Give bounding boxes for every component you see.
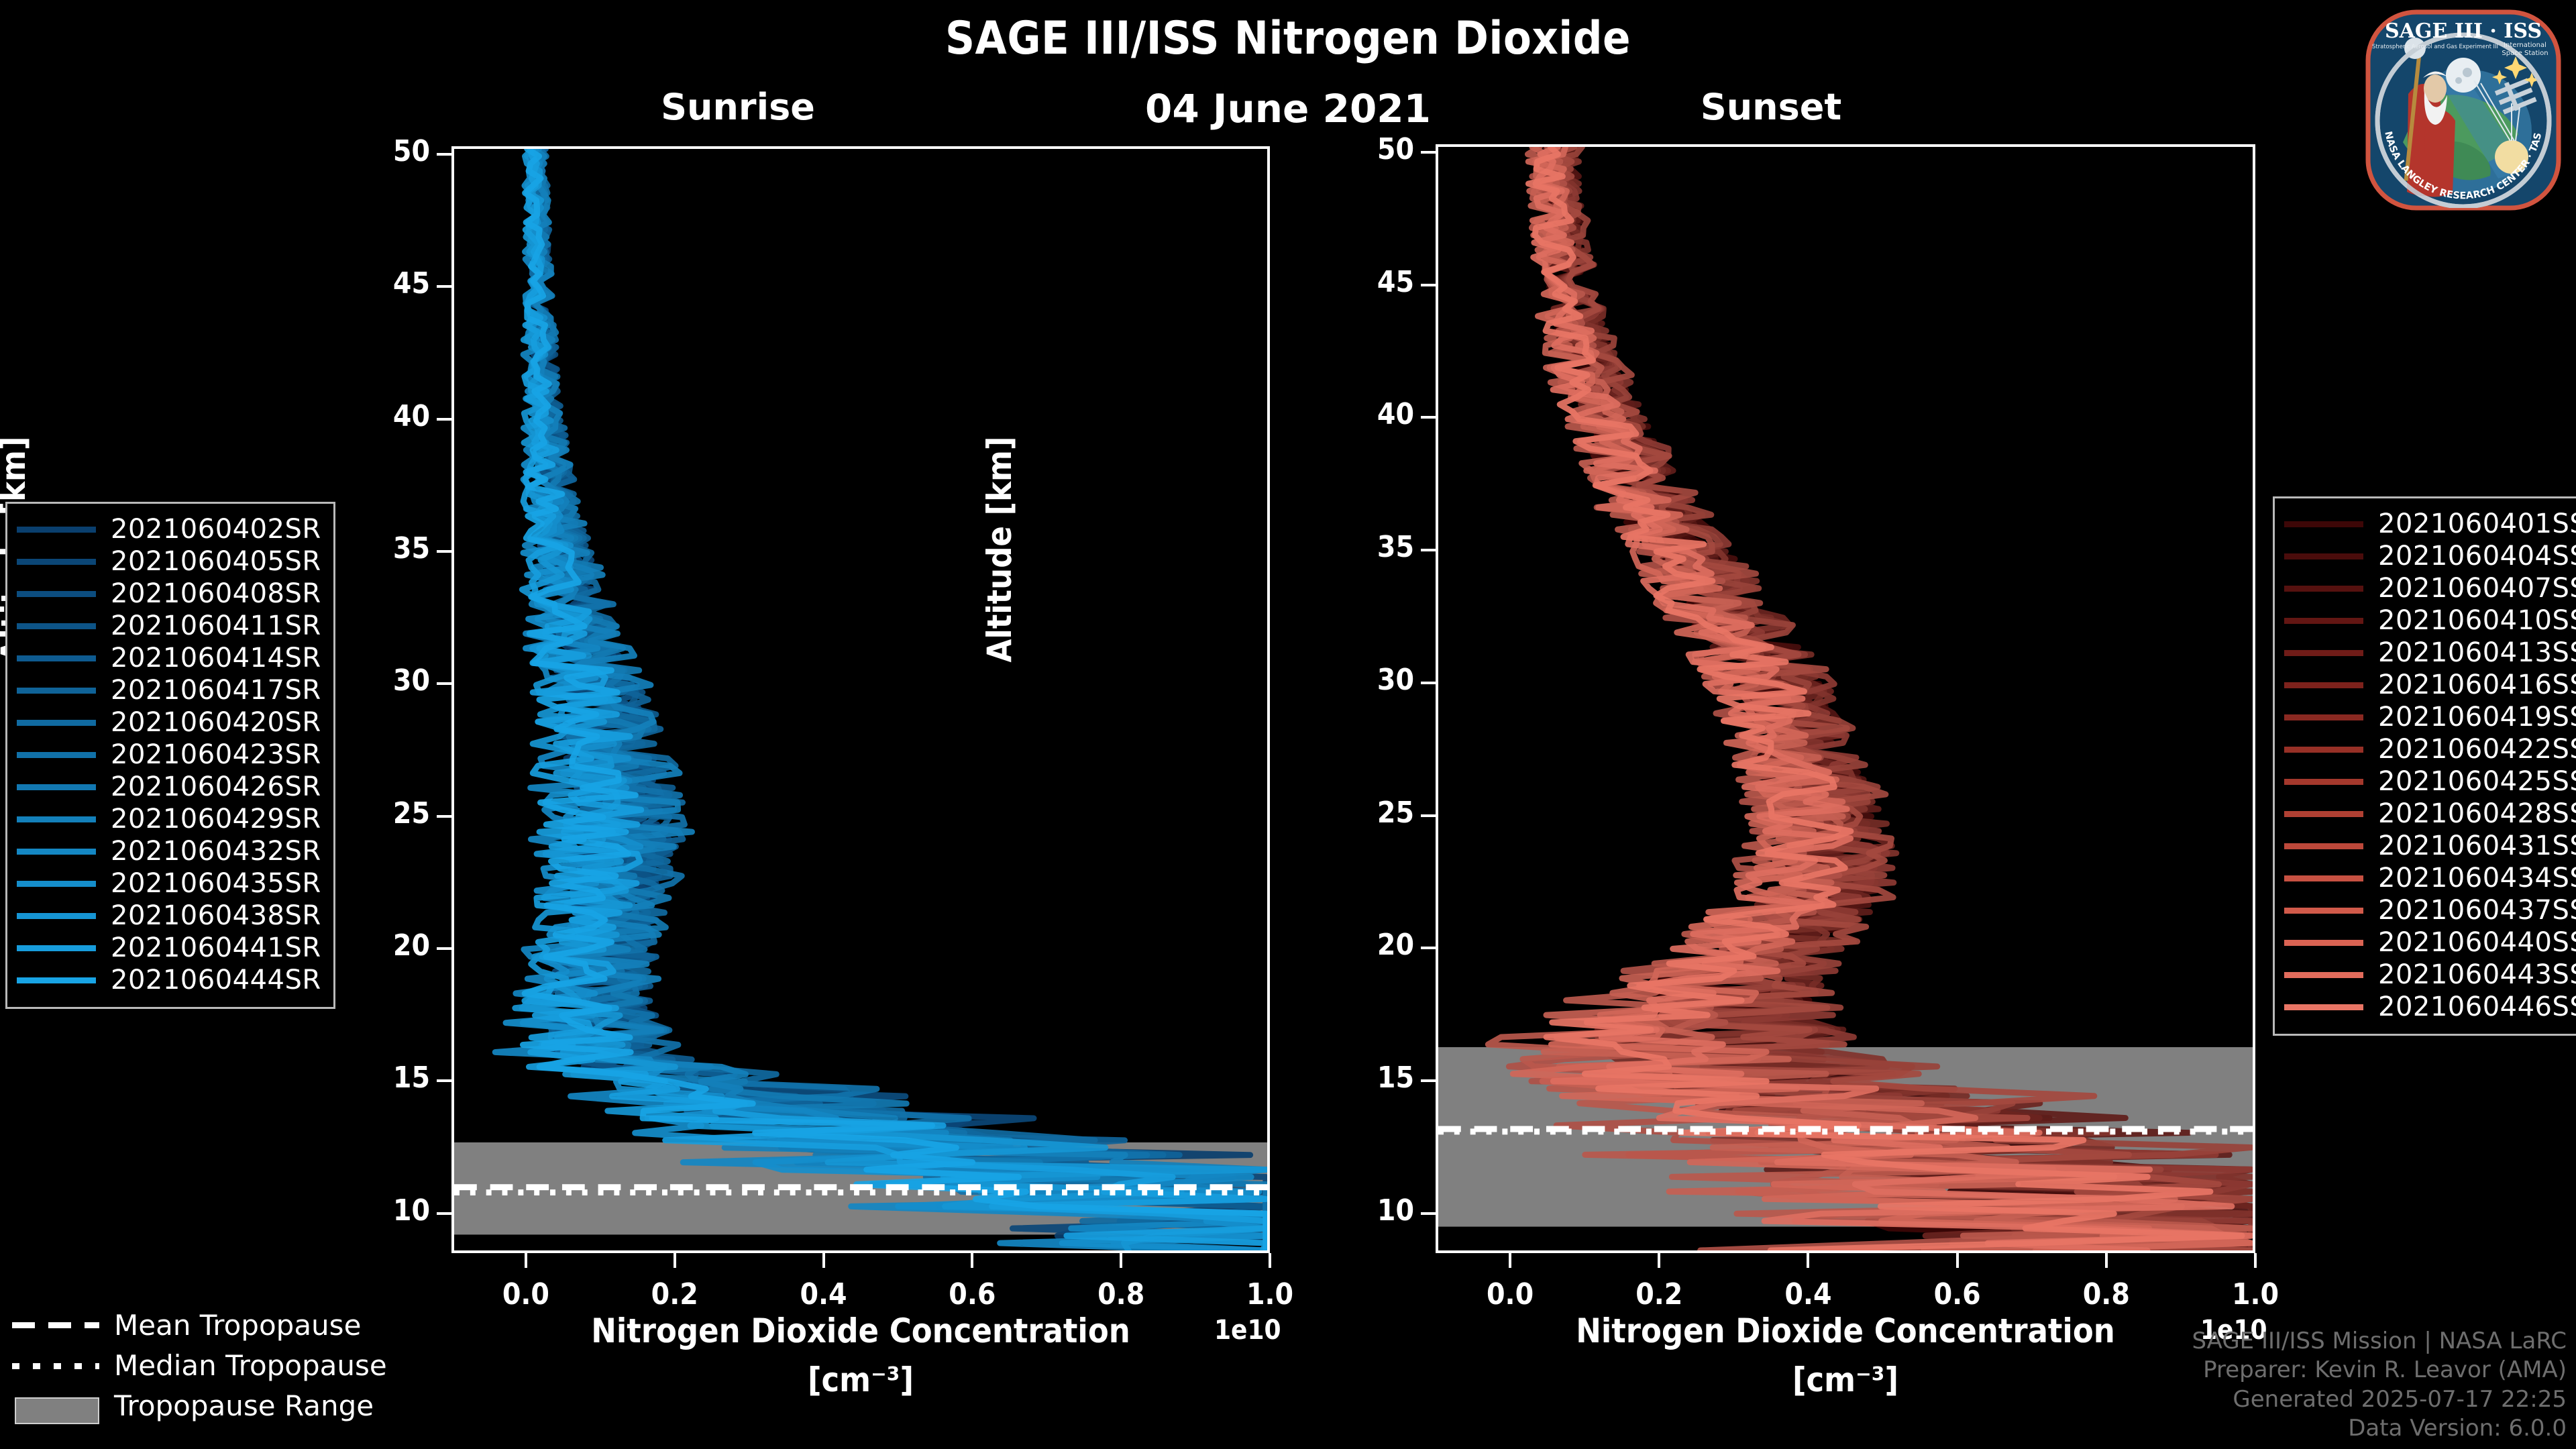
logo-subtitle-right-2: Space Station: [2502, 50, 2548, 57]
ytick-mark: [1421, 947, 1436, 949]
tropopause-legend: Mean Tropopause Median Tropopause Tropop…: [12, 1305, 387, 1426]
ytick-label: 45: [351, 266, 430, 301]
logo-subtitle-right-1: International: [2504, 42, 2546, 49]
legend-color-swatch: [2284, 843, 2363, 849]
legend-item[interactable]: 2021060446SS: [2284, 991, 2576, 1023]
legend-item[interactable]: 2021060443SS: [2284, 959, 2576, 991]
legend-item[interactable]: 2021060422SS: [2284, 733, 2576, 765]
legend-item[interactable]: 2021060425SS: [2284, 765, 2576, 798]
legend-color-swatch: [17, 849, 96, 855]
xtick-label: 0.6: [912, 1277, 1032, 1311]
xtick-label: 0.6: [1897, 1277, 2018, 1311]
legend-item[interactable]: 2021060428SS: [2284, 798, 2576, 830]
ytick-mark: [437, 682, 451, 685]
xtick-label: 0.2: [614, 1277, 735, 1311]
xtick-mark: [1807, 1253, 1809, 1268]
ytick-mark: [1421, 549, 1436, 551]
legend-color-swatch: [2284, 521, 2363, 527]
legend-color-swatch: [17, 720, 96, 726]
legend-item-label: 2021060435SR: [111, 868, 321, 899]
legend-color-swatch: [17, 945, 96, 951]
ytick-label: 30: [351, 663, 430, 698]
mean-tropopause-label: Mean Tropopause: [114, 1309, 361, 1342]
ytick-label: 35: [1335, 530, 1414, 564]
legend-row-mean-tropopause: Mean Tropopause: [12, 1305, 387, 1345]
legend-item-label: 2021060440SS: [2378, 927, 2576, 958]
ytick-label: 20: [351, 928, 430, 963]
legend-item-label: 2021060429SR: [111, 804, 321, 835]
ytick-mark: [1421, 416, 1436, 419]
xtick-mark: [1658, 1253, 1660, 1268]
footer-line-version: Data Version: 6.0.0: [2192, 1414, 2567, 1444]
footer-line-generated: Generated 2025-07-17 22:25: [2192, 1385, 2567, 1415]
legend-item[interactable]: 2021060408SR: [17, 578, 321, 610]
sage-iii-iss-logo: SAGE III · ISS Stratospheric Aerosol and…: [2356, 3, 2571, 217]
xtick-mark: [822, 1253, 825, 1268]
ytick-mark: [1421, 814, 1436, 817]
legend-item[interactable]: 2021060420SR: [17, 706, 321, 739]
ytick-mark: [437, 285, 451, 288]
legend-item-label: 2021060431SS: [2378, 830, 2576, 861]
legend-item-label: 2021060420SR: [111, 707, 321, 738]
ytick-mark: [1421, 284, 1436, 286]
legend-item-label: 2021060444SR: [111, 965, 321, 996]
legend-item[interactable]: 2021060437SS: [2284, 894, 2576, 926]
legend-row-median-tropopause: Median Tropopause: [12, 1345, 387, 1385]
legend-item-label: 2021060404SS: [2378, 541, 2576, 572]
legend-item[interactable]: 2021060417SR: [17, 674, 321, 706]
sunset-xlabel-line1: Nitrogen Dioxide Concentration: [1436, 1311, 2255, 1350]
legend-item[interactable]: 2021060423SR: [17, 739, 321, 771]
xtick-label: 0.2: [1599, 1277, 1719, 1311]
legend-item[interactable]: 2021060405SR: [17, 545, 321, 578]
ytick-mark: [437, 418, 451, 421]
legend-item[interactable]: 2021060404SS: [2284, 540, 2576, 572]
date-title: 04 June 2021: [0, 86, 2576, 131]
xtick-label: 0.0: [1450, 1277, 1570, 1311]
legend-item-label: 2021060434SS: [2378, 863, 2576, 894]
legend-item-label: 2021060443SS: [2378, 959, 2576, 990]
legend-item-label: 2021060423SR: [111, 739, 321, 770]
sunrise-profile-curves: [454, 149, 1267, 1250]
sunrise-plot-area: [451, 146, 1270, 1253]
xtick-label: 0.4: [1748, 1277, 1868, 1311]
footer-line-mission: SAGE III/ISS Mission | NASA LaRC: [2192, 1327, 2567, 1356]
xtick-label: 1.0: [1210, 1277, 1330, 1311]
legend-item[interactable]: 2021060441SR: [17, 932, 321, 964]
sunrise-x-offset-text: 1e10: [1214, 1315, 1281, 1346]
legend-item[interactable]: 2021060432SR: [17, 835, 321, 867]
legend-item[interactable]: 2021060402SR: [17, 513, 321, 545]
ytick-label: 15: [351, 1061, 430, 1095]
legend-color-swatch: [17, 881, 96, 887]
legend-color-swatch: [2284, 650, 2363, 656]
legend-color-swatch: [2284, 747, 2363, 753]
legend-item[interactable]: 2021060416SS: [2284, 669, 2576, 701]
legend-color-swatch: [2284, 972, 2363, 978]
legend-item[interactable]: 2021060413SS: [2284, 637, 2576, 669]
legend-item-label: 2021060446SS: [2378, 991, 2576, 1022]
ytick-label: 20: [1335, 928, 1414, 962]
legend-color-swatch: [2284, 940, 2363, 946]
legend-item-label: 2021060405SR: [111, 546, 321, 577]
legend-item-label: 2021060416SS: [2378, 669, 2576, 700]
legend-item[interactable]: 2021060444SR: [17, 964, 321, 996]
legend-item-label: 2021060419SS: [2378, 702, 2576, 733]
ytick-mark: [437, 153, 451, 156]
sunrise-xlabel-line2: [cm⁻³]: [451, 1360, 1270, 1399]
dotted-line-icon: [12, 1357, 99, 1373]
legend-color-swatch: [2284, 811, 2363, 817]
legend-item-label: 2021060414SR: [111, 643, 321, 674]
ytick-label: 50: [351, 134, 430, 168]
legend-item[interactable]: 2021060401SS: [2284, 508, 2576, 540]
ytick-mark: [1421, 1212, 1436, 1215]
legend-color-swatch: [2284, 875, 2363, 881]
legend-row-tropopause-range: Tropopause Range: [12, 1385, 387, 1426]
sunset-panel-title: Sunset: [1637, 86, 1905, 128]
legend-color-swatch: [2284, 553, 2363, 559]
xtick-mark: [1509, 1253, 1511, 1268]
legend-item-label: 2021060425SS: [2378, 766, 2576, 797]
ytick-label: 15: [1335, 1061, 1414, 1095]
legend-color-swatch: [17, 784, 96, 790]
ytick-mark: [437, 1079, 451, 1082]
legend-item-label: 2021060441SR: [111, 932, 321, 963]
legend-item[interactable]: 2021060426SR: [17, 771, 321, 803]
ytick-label: 40: [1335, 397, 1414, 431]
legend-item-label: 2021060410SS: [2378, 605, 2576, 636]
legend-item-label: 2021060413SS: [2378, 637, 2576, 668]
median-tropopause-label: Median Tropopause: [114, 1349, 387, 1382]
gray-band-icon: [12, 1397, 99, 1413]
xtick-mark: [674, 1253, 676, 1268]
legend-color-swatch: [2284, 682, 2363, 688]
legend-item-label: 2021060422SS: [2378, 734, 2576, 765]
xtick-label: 0.4: [763, 1277, 884, 1311]
legend-item[interactable]: 2021060438SR: [17, 900, 321, 932]
legend-item-label: 2021060438SR: [111, 900, 321, 931]
legend-color-swatch: [2284, 1004, 2363, 1010]
footer-line-preparer: Preparer: Kevin R. Leavor (AMA): [2192, 1356, 2567, 1385]
legend-item[interactable]: 2021060414SR: [17, 642, 321, 674]
sunset-plot-area: [1436, 144, 2255, 1253]
logo-title: SAGE III · ISS: [2385, 19, 2542, 43]
legend-item-label: 2021060402SR: [111, 514, 321, 545]
legend-item[interactable]: 2021060429SR: [17, 803, 321, 835]
ytick-mark: [437, 815, 451, 818]
legend-item-label: 2021060407SS: [2378, 573, 2576, 604]
ytick-mark: [437, 947, 451, 950]
legend-item-label: 2021060417SR: [111, 675, 321, 706]
legend-color-swatch: [17, 752, 96, 758]
logo-subtitle-left: Stratospheric Aerosol and Gas Experiment…: [2372, 43, 2498, 50]
tropopause-range-label: Tropopause Range: [114, 1389, 374, 1422]
legend-color-swatch: [17, 559, 96, 565]
legend-item[interactable]: 2021060431SS: [2284, 830, 2576, 862]
sunrise-xlabel-line1: Nitrogen Dioxide Concentration: [451, 1311, 1270, 1350]
legend-item-label: 2021060408SR: [111, 578, 321, 609]
sunset-ylabel: Altitude [km]: [980, 315, 1019, 784]
ytick-label: 10: [351, 1193, 430, 1228]
ytick-label: 25: [1335, 796, 1414, 830]
dashed-line-icon: [12, 1317, 99, 1333]
legend-item-label: 2021060437SS: [2378, 895, 2576, 926]
legend-color-swatch: [2284, 586, 2363, 592]
xtick-label: 0.0: [466, 1277, 586, 1311]
ytick-mark: [437, 550, 451, 553]
legend-color-swatch: [17, 623, 96, 629]
xtick-mark: [2105, 1253, 2108, 1268]
ytick-label: 35: [351, 531, 430, 566]
ytick-label: 45: [1335, 265, 1414, 299]
legend-item-label: 2021060426SR: [111, 771, 321, 802]
xtick-label: 0.8: [2046, 1277, 2167, 1311]
legend-item[interactable]: 2021060440SS: [2284, 926, 2576, 959]
legend-color-swatch: [17, 688, 96, 694]
legend-item[interactable]: 2021060407SS: [2284, 572, 2576, 604]
legend-color-swatch: [2284, 618, 2363, 624]
xtick-mark: [1120, 1253, 1122, 1268]
legend-color-swatch: [17, 655, 96, 661]
footer-credits: SAGE III/ISS Mission | NASA LaRC Prepare…: [2192, 1327, 2567, 1444]
ytick-mark: [1421, 151, 1436, 154]
xtick-mark: [1269, 1253, 1271, 1268]
xtick-mark: [2254, 1253, 2257, 1268]
ytick-mark: [1421, 1079, 1436, 1082]
legend-item[interactable]: 2021060435SR: [17, 867, 321, 900]
legend-item[interactable]: 2021060410SS: [2284, 604, 2576, 637]
ytick-mark: [437, 1212, 451, 1215]
legend-color-swatch: [2284, 714, 2363, 720]
legend-color-swatch: [2284, 779, 2363, 785]
legend-item[interactable]: 2021060411SR: [17, 610, 321, 642]
ytick-label: 40: [351, 399, 430, 433]
legend-color-swatch: [17, 816, 96, 822]
ytick-mark: [1421, 682, 1436, 684]
legend-color-swatch: [17, 977, 96, 983]
legend-color-swatch: [17, 591, 96, 597]
xtick-mark: [525, 1253, 527, 1268]
legend-item-label: 2021060401SS: [2378, 508, 2576, 539]
page-title: SAGE III/ISS Nitrogen Dioxide: [0, 12, 2576, 65]
sunset-xlabel-line2: [cm⁻³]: [1436, 1360, 2255, 1399]
sunrise-series-legend[interactable]: 2021060402SR2021060405SR2021060408SR2021…: [5, 502, 335, 1009]
xtick-label: 0.8: [1061, 1277, 1181, 1311]
legend-item-label: 2021060432SR: [111, 836, 321, 867]
legend-item[interactable]: 2021060419SS: [2284, 701, 2576, 733]
legend-item-label: 2021060411SR: [111, 610, 321, 641]
legend-item-label: 2021060428SS: [2378, 798, 2576, 829]
sunset-series-legend[interactable]: 2021060401SS2021060404SS2021060407SS2021…: [2273, 496, 2576, 1036]
legend-color-swatch: [2284, 908, 2363, 914]
legend-color-swatch: [17, 913, 96, 919]
sunrise-panel-title: Sunrise: [604, 86, 872, 128]
ytick-label: 25: [351, 796, 430, 830]
legend-color-swatch: [17, 527, 96, 533]
sunset-profile-curves: [1438, 147, 2253, 1250]
legend-item[interactable]: 2021060434SS: [2284, 862, 2576, 894]
ytick-label: 50: [1335, 132, 1414, 166]
xtick-mark: [971, 1253, 973, 1268]
ytick-label: 30: [1335, 663, 1414, 697]
xtick-label: 1.0: [2195, 1277, 2316, 1311]
ytick-label: 10: [1335, 1193, 1414, 1228]
xtick-mark: [1956, 1253, 1959, 1268]
